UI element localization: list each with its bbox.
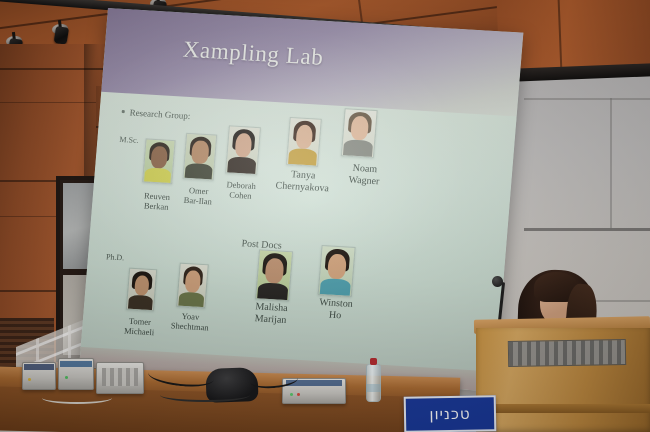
podium-control-panel[interactable]: [508, 339, 626, 367]
member-photo: [225, 125, 261, 175]
member-name: Tanya Chernyakova: [266, 168, 340, 195]
lab-instrument-grid: [96, 362, 144, 394]
member-name: Yoav Shechtman: [162, 310, 218, 333]
member-name: Winston Ho: [306, 296, 366, 322]
technion-sign-text: טכניון: [429, 405, 471, 424]
projection-screen: Xampling Lab Research Group: M.Sc. Ph.D.…: [108, 8, 524, 380]
msc-label: M.Sc.: [119, 135, 139, 145]
microphone-icon: [492, 276, 503, 287]
ceiling-spotlight: [51, 23, 68, 35]
cable: [160, 388, 250, 402]
member-name: Malisha Marijan: [239, 300, 303, 327]
water-bottle: [366, 364, 381, 402]
podium-lower-trim: [474, 404, 650, 413]
member-photo: [176, 263, 208, 309]
lab-instrument: [22, 362, 56, 390]
lecture-hall-photo: Xampling Lab Research Group: M.Sc. Ph.D.…: [0, 0, 650, 432]
bullet-dot: [122, 110, 125, 113]
member-photo: [126, 268, 157, 312]
lab-instrument: [58, 358, 94, 390]
presentation-slide: Xampling Lab Research Group: M.Sc. Ph.D.…: [79, 8, 523, 392]
technion-sign: טכניון: [404, 395, 497, 432]
member-photo: [286, 117, 322, 167]
member-photo: [341, 108, 378, 158]
member-photo: [318, 245, 356, 297]
wall-joint: [610, 98, 612, 230]
member-name: Tomer Michaeli: [116, 315, 164, 338]
member-name: Noam Wagner: [335, 162, 395, 188]
member-photo: [255, 249, 293, 301]
wall-joint: [524, 228, 650, 231]
phd-label: Ph.D.: [106, 252, 125, 262]
member-name: Deborah Cohen: [213, 179, 269, 202]
cable: [42, 392, 112, 404]
member-photo: [183, 133, 218, 181]
member-photo: [142, 138, 175, 184]
wall-joint: [524, 98, 650, 100]
